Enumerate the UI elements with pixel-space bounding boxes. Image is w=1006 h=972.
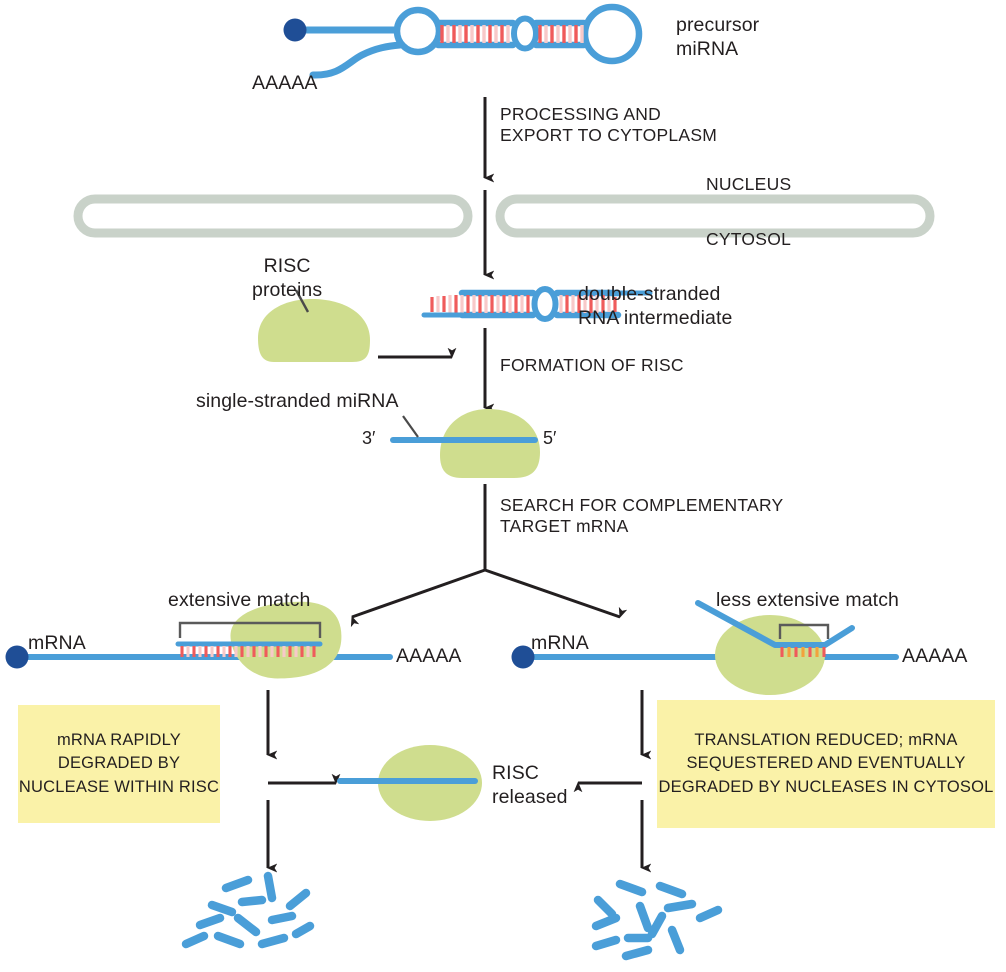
nuclear-envelope-left [78, 199, 468, 233]
label-polya-precursor: AAAAA [252, 72, 318, 96]
label-extensive-match: extensive match [168, 589, 310, 613]
arrow-branch-left [352, 570, 485, 617]
callout-right-outcome: TRANSLATION REDUCED; mRNA SEQUESTERED AN… [657, 700, 995, 828]
precursor-basepairs-stem1 [442, 25, 508, 43]
risc-complex-blob-loaded [440, 409, 540, 478]
label-risc-proteins: RISC proteins [252, 255, 322, 303]
left-degraded-fragments [186, 876, 310, 944]
right-degraded-fragments [596, 884, 718, 956]
precursor-basepairs-stem2 [540, 25, 582, 43]
label-processing-export: PROCESSING AND EXPORT TO CYTOPLASM [500, 104, 717, 147]
label-mrna-left: mRNA [28, 632, 86, 656]
label-formation-of-risc: FORMATION OF RISC [500, 355, 684, 376]
label-risc-released: RISC released [492, 762, 568, 810]
left-risc-blob [230, 602, 341, 679]
label-single-stranded-mirna: single-stranded miRNA [196, 390, 399, 414]
label-less-extensive-match: less extensive match [716, 589, 899, 613]
label-polya-left: AAAAA [396, 645, 462, 669]
label-3prime: 3′ [362, 428, 375, 450]
single-stranded-mirna-leader-line [403, 416, 418, 437]
left-mrna-5prime-cap [6, 646, 29, 669]
precursor-loop-left [397, 10, 439, 52]
precursor-bulge-middle [514, 19, 536, 49]
callout-left-outcome: mRNA RAPIDLY DEGRADED BY NUCLEASE WITHIN… [18, 705, 220, 823]
precursor-5prime-cap [284, 19, 307, 42]
risc-proteins-blob [258, 299, 370, 362]
label-5prime: 5′ [543, 428, 556, 450]
label-search-target: SEARCH FOR COMPLEMENTARY TARGET mRNA [500, 495, 783, 538]
label-nucleus: NUCLEUS [706, 174, 791, 195]
nuclear-envelope [78, 199, 930, 233]
label-double-stranded-rna: double-stranded RNA intermediate [578, 283, 732, 331]
precursor-mirna-structure [284, 7, 640, 75]
precursor-terminal-loop [585, 7, 639, 61]
right-basepairs [782, 647, 824, 657]
dsrna-central-bulge [535, 289, 556, 319]
label-mrna-right: mRNA [531, 632, 589, 656]
released-risc-complex [340, 745, 482, 821]
label-precursor-mirna: precursor miRNA [676, 14, 759, 62]
arrow-branch-right [485, 570, 620, 617]
label-polya-right: AAAAA [902, 645, 968, 669]
label-cytosol: CYTOSOL [706, 229, 791, 250]
mirna-pathway-diagram: precursor miRNA AAAAA PROCESSING AND EXP… [0, 0, 1006, 972]
nuclear-envelope-right [500, 199, 930, 233]
precursor-polya-tail [313, 45, 400, 75]
